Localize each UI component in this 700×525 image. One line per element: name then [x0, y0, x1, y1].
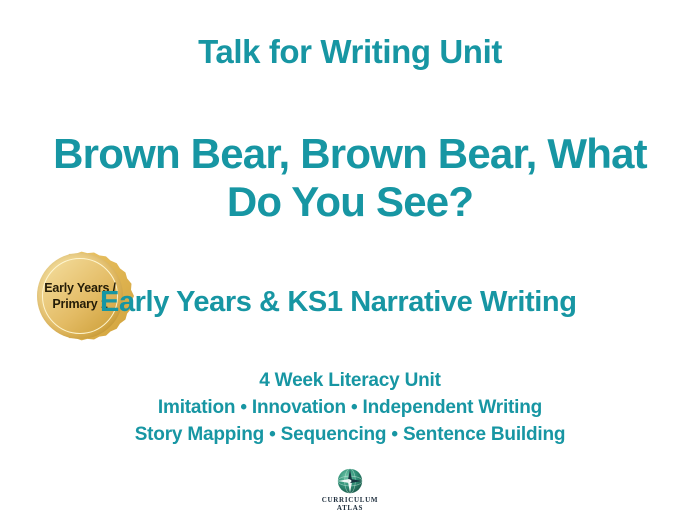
compass-globe-icon: [337, 468, 363, 494]
unit-type-eyebrow: Talk for Writing Unit: [0, 34, 700, 71]
slide-canvas: Talk for Writing Unit Brown Bear, Brown …: [0, 0, 700, 525]
detail-line: Story Mapping • Sequencing • Sentence Bu…: [0, 422, 700, 449]
unit-details: 4 Week Literacy Unit Imitation • Innovat…: [0, 368, 700, 449]
page-title: Brown Bear, Brown Bear, What Do You See?: [14, 130, 686, 226]
key-stage-subheading: Early Years & KS1 Narrative Writing: [100, 286, 660, 319]
detail-line: 4 Week Literacy Unit: [0, 368, 700, 395]
brand-name: CURRICULUM ATLAS: [322, 496, 378, 514]
brand-logo: CURRICULUM ATLAS: [0, 468, 700, 514]
page-title-line-1: Brown Bear, Brown Bear, What: [14, 130, 686, 178]
brand-name-line-1: CURRICULUM: [322, 496, 378, 505]
brand-name-line-2: ATLAS: [322, 504, 378, 513]
detail-line: Imitation • Innovation • Independent Wri…: [0, 395, 700, 422]
page-title-line-2: Do You See?: [14, 178, 686, 226]
